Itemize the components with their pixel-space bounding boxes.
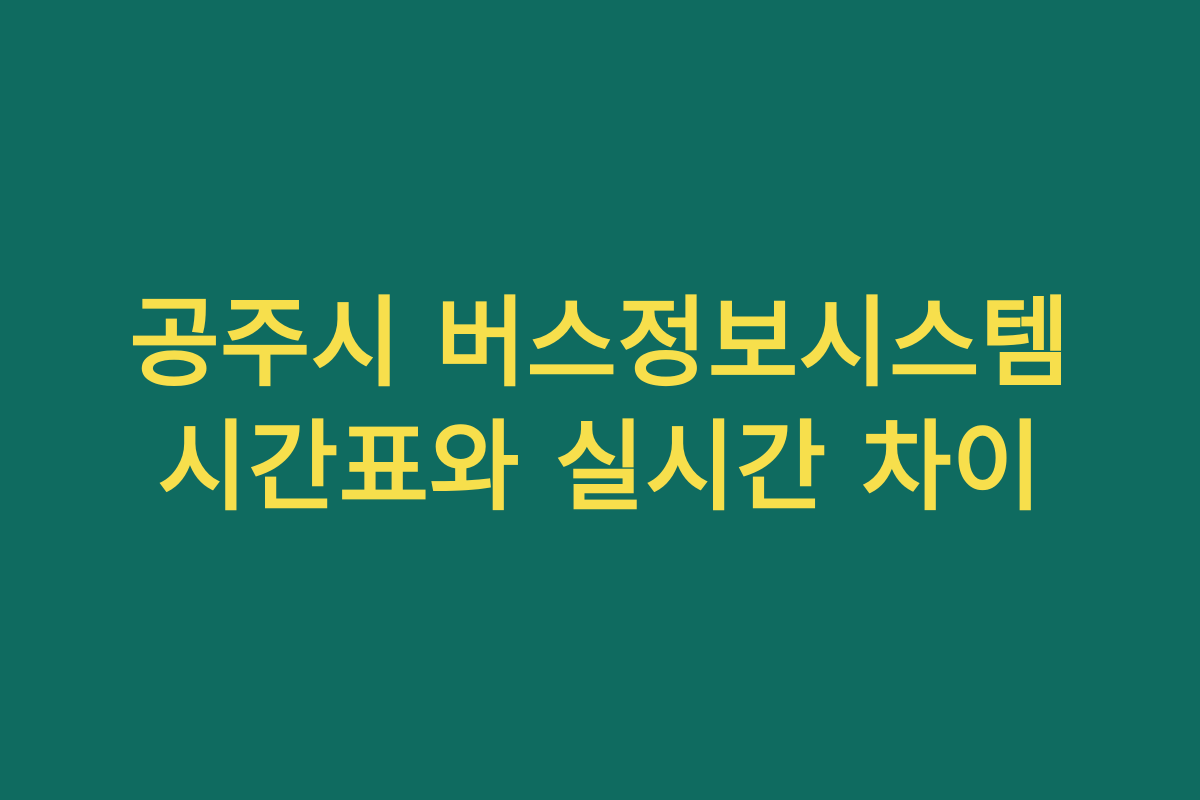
title-block: 공주시 버스정보시스템 시간표와 실시간 차이 xyxy=(0,288,1200,525)
title-banner: 공주시 버스정보시스템 시간표와 실시간 차이 xyxy=(0,0,1200,800)
title-line-primary: 공주시 버스정보시스템 xyxy=(0,288,1200,402)
title-line-secondary: 시간표와 실시간 차이 xyxy=(0,412,1200,526)
